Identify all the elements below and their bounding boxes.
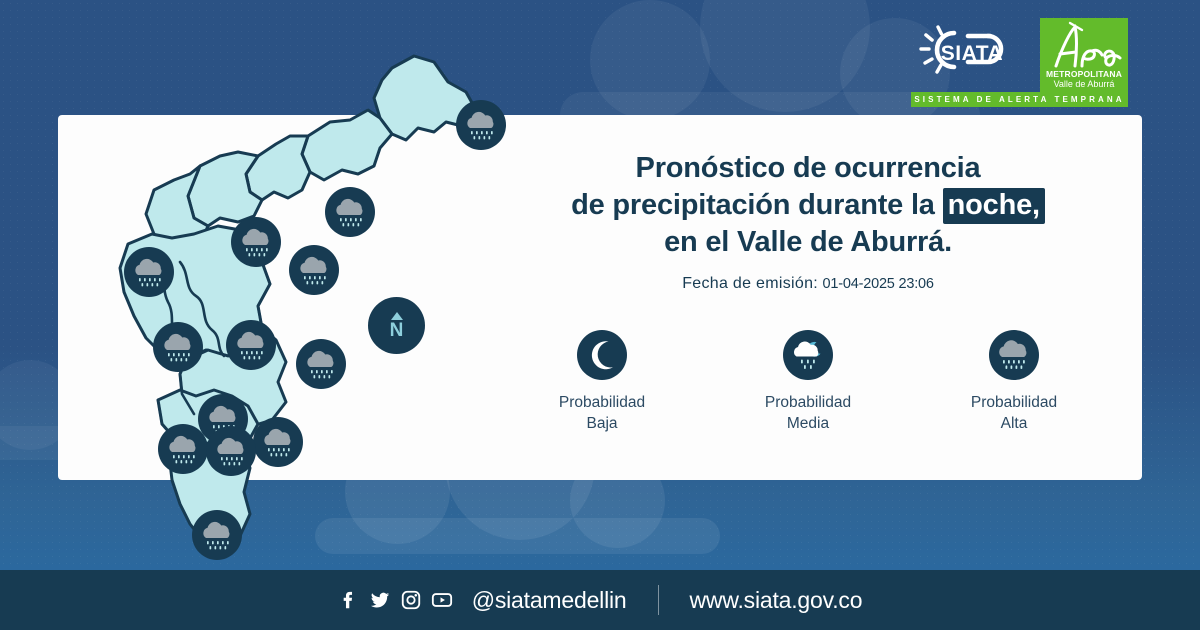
map-marker-alta[interactable]	[325, 187, 375, 237]
footer-content: @siatamedellin www.siata.gov.co	[338, 585, 863, 615]
map-marker-alta[interactable]	[289, 245, 339, 295]
headline-line-2-text: de precipitación durante la	[571, 189, 935, 221]
legend-baja-line2: Baja	[559, 413, 645, 434]
map-marker-alta[interactable]	[231, 217, 281, 267]
legend-item-media: Probabilidad Media	[744, 330, 872, 435]
map-marker-alta[interactable]	[253, 417, 303, 467]
social-links	[338, 589, 453, 611]
headline-line-2: de precipitación durante la noche,	[488, 187, 1128, 224]
legend-label-alta: Probabilidad Alta	[971, 392, 1057, 435]
legend-label-baja: Probabilidad Baja	[559, 392, 645, 435]
cloud-moon-rain-icon	[783, 330, 833, 380]
legend-media-line2: Media	[765, 413, 851, 434]
legend-label-media: Probabilidad Media	[765, 392, 851, 435]
youtube-icon[interactable]	[431, 589, 453, 611]
map-marker-alta[interactable]	[158, 424, 208, 474]
headline-line-1: Pronóstico de ocurrencia	[488, 150, 1128, 187]
footer-bar: @siatamedellin www.siata.gov.co	[0, 570, 1200, 630]
legend-item-baja: Probabilidad Baja	[538, 330, 666, 435]
compass-label: N	[390, 321, 404, 340]
valle-de-aburra-map: N	[62, 48, 482, 568]
area-metropolitana-logo: METROPOLITANA Valle de Aburrá	[1040, 18, 1128, 92]
emission-value: 01-04-2025 23:06	[823, 276, 934, 292]
twitter-icon[interactable]	[369, 589, 391, 611]
legend-alta-line2: Alta	[971, 413, 1057, 434]
map-marker-alta[interactable]	[206, 426, 256, 476]
legend-alta-line1: Probabilidad	[971, 392, 1057, 413]
map-marker-alta[interactable]	[192, 510, 242, 560]
instagram-icon[interactable]	[400, 589, 422, 611]
tagline-banner: SISTEMA DE ALERTA TEMPRANA	[911, 92, 1128, 107]
headline-highlight: noche,	[943, 188, 1045, 224]
map-marker-alta[interactable]	[153, 322, 203, 372]
infographic-canvas: SIATA METROPOLITANA Valle de Aburrá SIST…	[0, 0, 1200, 630]
north-arrow-icon: N	[368, 297, 425, 354]
legend-baja-line1: Probabilidad	[559, 392, 645, 413]
map-marker-alta[interactable]	[124, 247, 174, 297]
page-title: Pronóstico de ocurrencia de precipitació…	[488, 150, 1128, 261]
website-url[interactable]: www.siata.gov.co	[690, 587, 863, 614]
map-marker-alta[interactable]	[226, 320, 276, 370]
map-marker-alta[interactable]	[296, 339, 346, 389]
legend-media-line1: Probabilidad	[765, 392, 851, 413]
facebook-icon[interactable]	[338, 589, 360, 611]
legend-item-alta: Probabilidad Alta	[950, 330, 1078, 435]
moon-icon	[577, 330, 627, 380]
emission-label: Fecha de emisión:	[682, 275, 818, 292]
footer-divider	[658, 585, 659, 615]
map-marker-alta[interactable]	[456, 100, 506, 150]
cloud-heavy-rain-icon	[989, 330, 1039, 380]
north-triangle-icon	[391, 312, 403, 320]
emission-date: Fecha de emisión: 01-04-2025 23:06	[488, 275, 1128, 293]
probability-legend: Probabilidad Baja Probabilidad Media	[488, 330, 1128, 435]
area-wordmark-icon	[1040, 18, 1128, 74]
area-valle-label: Valle de Aburrá	[1054, 79, 1115, 89]
headline-line-3: en el Valle de Aburrá.	[488, 224, 1128, 261]
svg-text:SIATA: SIATA	[941, 42, 1003, 65]
logo-row: SIATA METROPOLITANA Valle de Aburrá	[910, 18, 1128, 92]
headline-block: Pronóstico de ocurrencia de precipitació…	[488, 150, 1128, 293]
siata-logo: SIATA	[910, 18, 1030, 90]
social-handle[interactable]: @siatamedellin	[472, 587, 627, 614]
